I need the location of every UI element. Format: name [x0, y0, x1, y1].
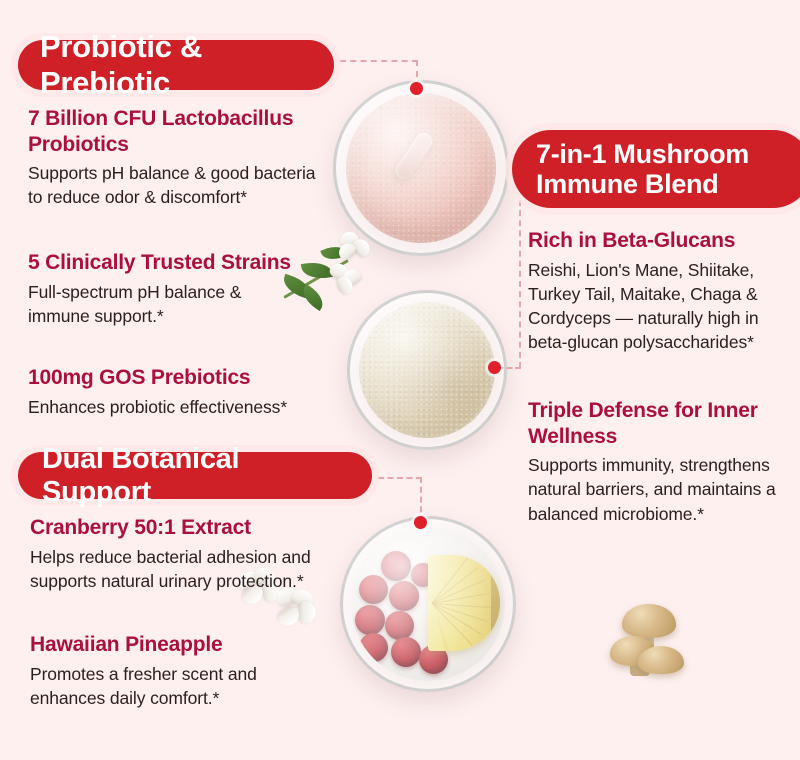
connector-line-mushroom-horizontal	[498, 367, 521, 369]
feature-heading-triple-defense: Triple Defense for Inner Wellness	[528, 398, 778, 449]
feature-heading-beta-glucans: Rich in Beta-Glucans	[528, 228, 796, 254]
connector-dot-mushroom	[488, 361, 501, 374]
feature-block-strains: 5 Clinically Trusted Strains Full-spectr…	[28, 250, 298, 328]
feature-body-cfu: Supports pH balance & good bacteria to r…	[28, 161, 328, 209]
feature-heading-pineapple: Hawaiian Pineapple	[30, 632, 330, 658]
feature-body-strains: Full-spectrum pH balance & immune suppor…	[28, 280, 298, 328]
feature-block-triple-defense: Triple Defense for Inner Wellness Suppor…	[528, 398, 778, 526]
feature-block-pineapple: Hawaiian Pineapple Promotes a fresher sc…	[30, 632, 330, 710]
infographic-canvas: Probiotic & Prebiotic 7-in-1 Mushroom Im…	[0, 0, 800, 760]
connector-dot-probiotic	[410, 82, 423, 95]
feature-heading-cranberry: Cranberry 50:1 Extract	[30, 515, 330, 541]
feature-block-cfu: 7 Billion CFU Lactobacillus Probiotics S…	[28, 106, 328, 210]
feature-heading-strains: 5 Clinically Trusted Strains	[28, 250, 298, 276]
badge-mushroom-immune-blend[interactable]: 7-in-1 Mushroom Immune Blend	[512, 130, 800, 208]
feature-body-pineapple: Promotes a fresher scent and enhances da…	[30, 662, 330, 710]
connector-line-botanical-horizontal	[378, 477, 422, 479]
connector-line-probiotic-horizontal	[340, 60, 418, 62]
badge-mushroom-label-line2: Immune Blend	[536, 169, 749, 199]
feature-block-cranberry: Cranberry 50:1 Extract Helps reduce bact…	[30, 515, 330, 593]
feature-block-beta-glucans: Rich in Beta-Glucans Reishi, Lion's Mane…	[528, 228, 796, 354]
connector-line-mushroom-vertical	[519, 200, 521, 368]
connector-dot-botanical	[414, 516, 427, 529]
feature-body-gos: Enhances probiotic effectiveness*	[28, 395, 328, 419]
feature-block-gos: 100mg GOS Prebiotics Enhances probiotic …	[28, 365, 328, 419]
feature-heading-gos: 100mg GOS Prebiotics	[28, 365, 328, 391]
feature-heading-cfu: 7 Billion CFU Lactobacillus Probiotics	[28, 106, 328, 157]
badge-dual-botanical-support[interactable]: Dual Botanical Support	[18, 452, 372, 499]
badge-mushroom-label-line1: 7-in-1 Mushroom	[536, 139, 749, 169]
badge-botanical-label: Dual Botanical Support	[42, 443, 348, 509]
cranberry-pineapple-bowl-image	[340, 516, 516, 692]
feature-body-cranberry: Helps reduce bacterial adhesion and supp…	[30, 545, 330, 593]
badge-probiotic-label: Probiotic & Prebiotic	[40, 29, 312, 101]
mushrooms-decoration-icon	[608, 596, 704, 682]
glass-bowl-rim	[340, 516, 516, 692]
feature-body-beta-glucans: Reishi, Lion's Mane, Shiitake, Turkey Ta…	[528, 258, 796, 355]
feature-body-triple-defense: Supports immunity, strengthens natural b…	[528, 453, 778, 525]
badge-probiotic-prebiotic[interactable]: Probiotic & Prebiotic	[18, 40, 334, 90]
